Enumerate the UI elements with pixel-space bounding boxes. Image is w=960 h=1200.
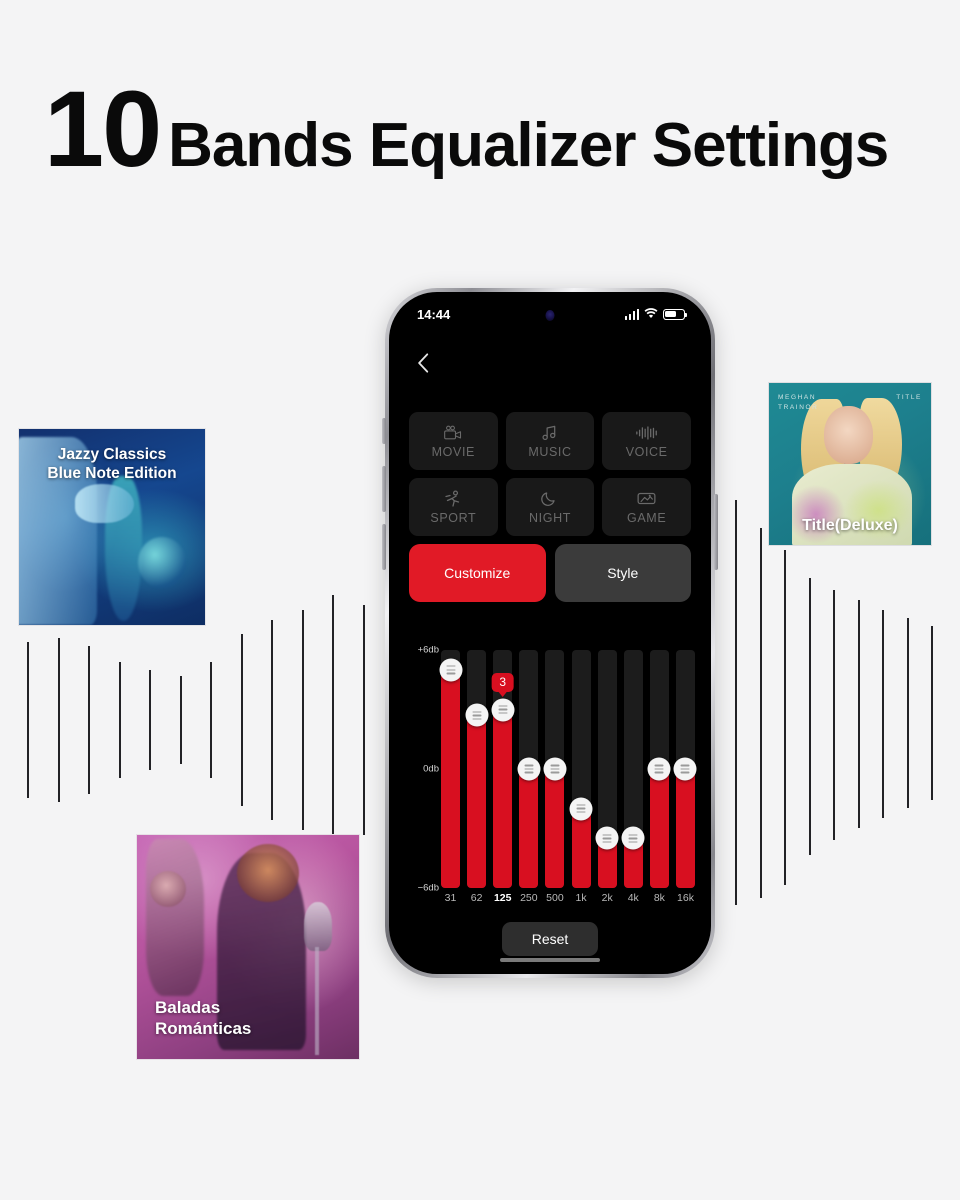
equalizer-freq-label-16k: 16k — [676, 892, 695, 904]
album-caption-baladas-romanticas: Baladas Románticas — [137, 997, 359, 1040]
equalizer-band-16k[interactable] — [676, 650, 695, 888]
equalizer-band-62[interactable] — [467, 650, 486, 888]
equalizer-fill — [493, 710, 512, 889]
preset-movie[interactable]: MOVIE — [409, 412, 498, 470]
phone-screen: 14:44 — [389, 292, 711, 974]
equalizer-y-axis: +6db0db−6db — [403, 650, 441, 888]
cellular-signal-icon — [625, 309, 640, 320]
music-note-icon — [541, 423, 558, 442]
waveform-bar — [241, 634, 243, 806]
equalizer-slider-handle[interactable] — [622, 827, 645, 850]
equalizer-fill — [545, 769, 564, 888]
running-person-icon — [444, 489, 462, 508]
silent-switch[interactable] — [382, 418, 386, 444]
equalizer-freq-label-2k: 2k — [598, 892, 617, 904]
album-title-label: TITLE — [896, 393, 922, 403]
page-title-number: 10 — [44, 75, 160, 183]
equalizer-band-31[interactable] — [441, 650, 460, 888]
album-caption-line: Baladas — [155, 997, 359, 1018]
volume-up-button[interactable] — [382, 466, 386, 512]
album-card-baladas-romanticas[interactable]: Baladas Románticas — [136, 834, 360, 1060]
equalizer-slider-handle[interactable] — [596, 827, 619, 850]
waveform-bar — [907, 618, 909, 808]
equalizer-freq-label-250: 250 — [519, 892, 538, 904]
equalizer-band-1k[interactable] — [572, 650, 591, 888]
preset-sport-label: SPORT — [430, 511, 476, 525]
equalizer-freq-label-125: 125 — [493, 892, 512, 904]
preset-voice[interactable]: VOICE — [602, 412, 691, 470]
preset-night-label: NIGHT — [529, 511, 571, 525]
equalizer-fill — [467, 715, 486, 888]
equalizer-band-500[interactable] — [545, 650, 564, 888]
equalizer-axis-label: 0db — [423, 764, 439, 775]
waveform-bar — [882, 610, 884, 818]
preset-movie-label: MOVIE — [432, 445, 475, 459]
equalizer-fill — [519, 769, 538, 888]
video-camera-icon — [443, 423, 463, 442]
equalizer-slider-handle[interactable] — [517, 758, 540, 781]
waveform-bar — [858, 600, 860, 828]
equalizer-band-2k[interactable] — [598, 650, 617, 888]
album-caption-line: Románticas — [155, 1018, 359, 1039]
customize-button[interactable]: Customize — [409, 544, 546, 602]
equalizer-slider-handle[interactable] — [674, 758, 697, 781]
equalizer-axis-label: +6db — [418, 645, 439, 656]
page-title: 10 Bands Equalizer Settings — [44, 75, 888, 183]
album-caption-line: Title(Deluxe) — [769, 516, 931, 536]
equalizer-frequency-labels: 31621252505001k2k4k8k16k — [441, 892, 695, 904]
equalizer-fill — [676, 769, 695, 888]
waveform-bar — [735, 500, 737, 905]
waveform-bar — [27, 642, 29, 798]
waveform-bar — [58, 638, 60, 802]
equalizer-fill — [441, 670, 460, 888]
equalizer-freq-label-1k: 1k — [572, 892, 591, 904]
page-title-text: Bands Equalizer Settings — [168, 115, 888, 177]
back-button[interactable] — [411, 350, 437, 381]
voice-waveform-icon — [635, 423, 659, 442]
equalizer-slider-handle[interactable] — [439, 658, 462, 681]
album-caption-line: Blue Note Edition — [19, 464, 205, 483]
album-artist-label: MEGHAN TRAINOR — [778, 393, 818, 413]
equalizer-freq-label-4k: 4k — [624, 892, 643, 904]
status-time: 14:44 — [417, 307, 450, 322]
equalizer-band-4k[interactable] — [624, 650, 643, 888]
equalizer-slider-handle[interactable] — [648, 758, 671, 781]
preset-music[interactable]: MUSIC — [506, 412, 595, 470]
waveform-bar — [784, 550, 786, 885]
preset-game[interactable]: GAME — [602, 478, 691, 536]
battery-icon — [663, 309, 685, 320]
status-icons — [625, 307, 686, 322]
waveform-bar — [180, 676, 182, 764]
waveform-bar — [931, 626, 933, 800]
preset-grid: MOVIE MUSIC — [409, 412, 691, 536]
album-card-jazzy-classics[interactable]: Jazzy Classics Blue Note Edition — [18, 428, 206, 626]
equalizer-slider-handle[interactable] — [543, 758, 566, 781]
equalizer-fill — [572, 809, 591, 888]
moon-icon — [541, 489, 558, 508]
preset-music-label: MUSIC — [528, 445, 571, 459]
wifi-icon — [644, 307, 658, 322]
equalizer-axis-label: −6db — [418, 883, 439, 894]
front-camera-icon — [546, 310, 555, 321]
waveform-bar — [363, 605, 365, 835]
gamepad-icon — [637, 489, 656, 508]
power-button[interactable] — [714, 494, 718, 570]
style-button[interactable]: Style — [555, 544, 692, 602]
waveform-bar — [760, 528, 762, 898]
chevron-left-icon — [411, 350, 437, 376]
preset-voice-label: VOICE — [626, 445, 668, 459]
waveform-bar — [88, 646, 90, 794]
equalizer-band-250[interactable] — [519, 650, 538, 888]
equalizer-sliders: 3 — [441, 650, 695, 888]
equalizer-freq-label-62: 62 — [467, 892, 486, 904]
equalizer-slider-handle[interactable] — [465, 704, 488, 727]
equalizer: +6db0db−6db 3 31621252505001k2k4k8k16k — [403, 650, 697, 910]
equalizer-slider-handle[interactable] — [570, 797, 593, 820]
album-caption-line: Jazzy Classics — [19, 445, 205, 464]
equalizer-freq-label-8k: 8k — [650, 892, 669, 904]
equalizer-fill — [650, 769, 669, 888]
equalizer-value-tooltip: 3 — [491, 673, 514, 692]
equalizer-band-8k[interactable] — [650, 650, 669, 888]
equalizer-freq-label-31: 31 — [441, 892, 460, 904]
waveform-bar — [332, 595, 334, 845]
equalizer-freq-label-500: 500 — [545, 892, 564, 904]
preset-sport[interactable]: SPORT — [409, 478, 498, 536]
waveform-bar — [809, 578, 811, 855]
waveform-bar — [833, 590, 835, 840]
preset-game-label: GAME — [627, 511, 666, 525]
equalizer-slider-handle[interactable] — [491, 698, 514, 721]
waveform-bar — [302, 610, 304, 830]
waveform-bar — [271, 620, 273, 820]
waveform-bar — [149, 670, 151, 770]
home-indicator[interactable] — [500, 958, 600, 962]
phone-mockup: 14:44 — [385, 288, 715, 978]
reset-button[interactable]: Reset — [502, 922, 598, 956]
volume-down-button[interactable] — [382, 524, 386, 570]
preset-night[interactable]: NIGHT — [506, 478, 595, 536]
status-bar: 14:44 — [389, 292, 711, 336]
album-caption-jazzy-classics: Jazzy Classics Blue Note Edition — [19, 445, 205, 484]
waveform-bar — [210, 662, 212, 778]
album-card-title-deluxe[interactable]: MEGHAN TRAINOR TITLE Title(Deluxe) — [768, 382, 932, 546]
mode-buttons: Customize Style — [409, 544, 691, 602]
waveform-decoration-right — [728, 500, 958, 920]
album-caption-title-deluxe: Title(Deluxe) — [769, 516, 931, 536]
equalizer-band-125[interactable]: 3 — [493, 650, 512, 888]
waveform-bar — [119, 662, 121, 778]
